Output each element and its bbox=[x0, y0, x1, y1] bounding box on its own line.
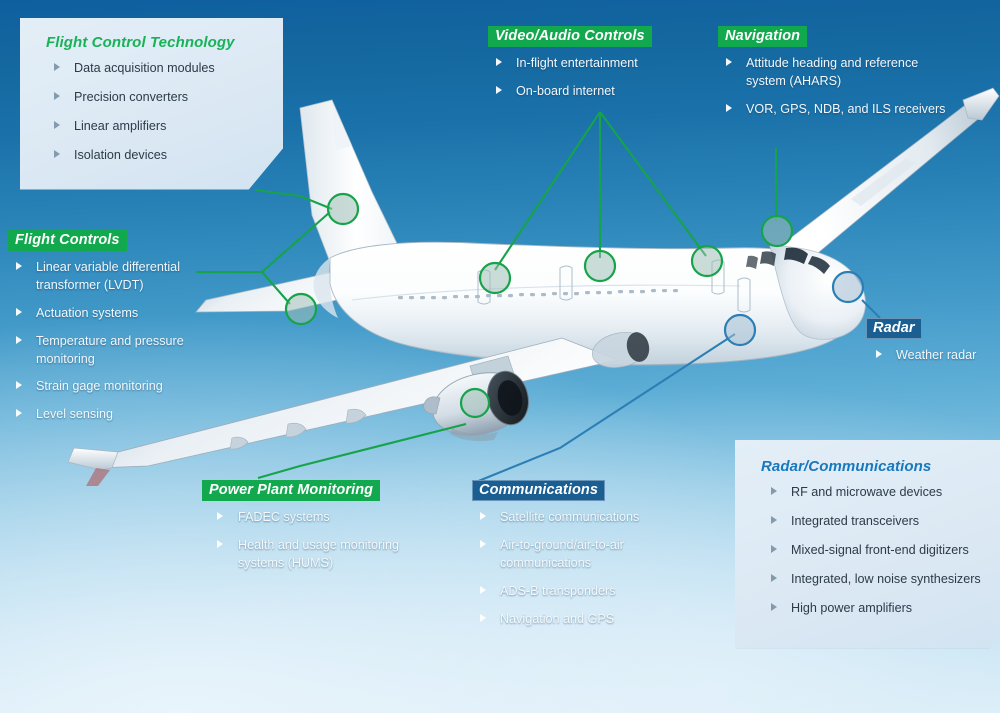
callout-marker-horizontal-stabilizer bbox=[286, 294, 316, 324]
group-radar-communications: Radar/Communications RF and microwave de… bbox=[735, 440, 1000, 648]
list-item: ADS-B transponders bbox=[472, 583, 687, 601]
item-list-radar-communications: RF and microwave devices Integrated tran… bbox=[749, 484, 1000, 617]
aerospace-infographic: Flight Control Technology Data acquisiti… bbox=[0, 0, 1000, 713]
triangle-right-icon bbox=[16, 409, 22, 417]
group-navigation: Navigation Attitude heading and referenc… bbox=[718, 26, 958, 129]
triangle-right-icon bbox=[480, 614, 486, 622]
group-title-radar: Radar bbox=[866, 318, 922, 339]
list-item: Data acquisition modules bbox=[34, 60, 269, 78]
item-list-power-plant-monitoring: FADEC systems Health and usage monitorin… bbox=[202, 509, 427, 573]
fuselage bbox=[330, 242, 858, 366]
list-item: Navigation and GPS bbox=[472, 611, 687, 629]
item-list-flight-control-technology: Data acquisition modules Precision conve… bbox=[34, 60, 269, 165]
triangle-right-icon bbox=[726, 58, 732, 66]
group-video-audio-controls: Video/Audio Controls In-flight entertain… bbox=[488, 26, 688, 111]
green-leader-lines bbox=[196, 112, 776, 478]
triangle-right-icon bbox=[217, 540, 223, 548]
list-item: Level sensing bbox=[8, 406, 223, 424]
callout-marker-nose-radome bbox=[833, 272, 863, 302]
triangle-right-icon bbox=[16, 336, 22, 344]
group-flight-controls: Flight Controls Linear variable differen… bbox=[8, 230, 223, 434]
triangle-right-icon bbox=[480, 512, 486, 520]
callout-marker-crown-antenna bbox=[762, 216, 792, 246]
group-title-navigation: Navigation bbox=[718, 26, 807, 47]
triangle-right-icon bbox=[54, 121, 60, 129]
triangle-right-icon bbox=[54, 63, 60, 71]
list-item: On-board internet bbox=[488, 83, 688, 101]
cockpit-windows bbox=[746, 248, 830, 274]
group-title-flight-control-technology: Flight Control Technology bbox=[46, 34, 235, 51]
triangle-right-icon bbox=[496, 58, 502, 66]
callout-marker-belly-antenna bbox=[725, 315, 755, 345]
group-title-flight-controls: Flight Controls bbox=[8, 230, 127, 251]
triangle-right-icon bbox=[771, 487, 777, 495]
callout-marker-engine bbox=[461, 389, 489, 417]
callout-marker-aft-cabin bbox=[692, 246, 722, 276]
triangle-right-icon bbox=[480, 540, 486, 548]
list-item: Attitude heading and reference system (A… bbox=[718, 55, 958, 91]
nose-cockpit bbox=[746, 246, 865, 339]
group-communications: Communications Satellite communications … bbox=[472, 480, 687, 638]
triangle-right-icon bbox=[771, 516, 777, 524]
triangle-right-icon bbox=[16, 308, 22, 316]
item-list-navigation: Attitude heading and reference system (A… bbox=[718, 55, 958, 119]
group-title-video-audio-controls: Video/Audio Controls bbox=[488, 26, 652, 47]
triangle-right-icon bbox=[54, 150, 60, 158]
list-item: Mixed-signal front-end digitizers bbox=[749, 542, 1000, 560]
list-item: Health and usage monitoring systems (HUM… bbox=[202, 537, 427, 573]
list-item: RF and microwave devices bbox=[749, 484, 1000, 502]
callout-marker-tail-fin bbox=[328, 194, 358, 224]
list-item: In-flight entertainment bbox=[488, 55, 688, 73]
list-item: Linear amplifiers bbox=[34, 118, 269, 136]
item-list-flight-controls: Linear variable differential transformer… bbox=[8, 259, 223, 424]
list-item: Air-to-ground/air-to-air communications bbox=[472, 537, 687, 573]
group-title-communications: Communications bbox=[472, 480, 605, 501]
list-item: High power amplifiers bbox=[749, 600, 1000, 618]
triangle-right-icon bbox=[726, 104, 732, 112]
triangle-right-icon bbox=[480, 586, 486, 594]
list-item: Strain gage monitoring bbox=[8, 378, 223, 396]
group-radar: Radar Weather radar bbox=[866, 318, 1000, 375]
triangle-right-icon bbox=[496, 86, 502, 94]
blue-callout-markers bbox=[725, 272, 863, 345]
list-item: Weather radar bbox=[866, 347, 1000, 365]
callout-marker-fwd-cabin bbox=[480, 263, 510, 293]
engine-nacelle bbox=[424, 356, 534, 444]
group-power-plant-monitoring: Power Plant Monitoring FADEC systems Hea… bbox=[202, 480, 427, 583]
far-engine bbox=[589, 328, 652, 373]
triangle-right-icon bbox=[16, 262, 22, 270]
triangle-right-icon bbox=[54, 92, 60, 100]
triangle-right-icon bbox=[876, 350, 882, 358]
group-title-power-plant-monitoring: Power Plant Monitoring bbox=[202, 480, 380, 501]
callout-marker-mid-cabin bbox=[585, 251, 615, 281]
item-list-video-audio-controls: In-flight entertainment On-board interne… bbox=[488, 55, 688, 101]
list-item: FADEC systems bbox=[202, 509, 427, 527]
fuselage-doors bbox=[478, 260, 750, 312]
triangle-right-icon bbox=[771, 603, 777, 611]
group-title-radar-communications: Radar/Communications bbox=[761, 458, 931, 475]
group-flight-control-technology: Flight Control Technology Data acquisiti… bbox=[20, 18, 283, 190]
triangle-right-icon bbox=[16, 381, 22, 389]
list-item: Precision converters bbox=[34, 89, 269, 107]
list-item: Isolation devices bbox=[34, 147, 269, 165]
item-list-radar: Weather radar bbox=[866, 347, 1000, 365]
triangle-right-icon bbox=[217, 512, 223, 520]
horizontal-stabilizer bbox=[196, 250, 478, 312]
triangle-right-icon bbox=[771, 545, 777, 553]
green-callout-markers bbox=[286, 194, 792, 417]
list-item: Actuation systems bbox=[8, 305, 223, 323]
list-item: Temperature and pressure monitoring bbox=[8, 333, 223, 369]
triangle-right-icon bbox=[771, 574, 777, 582]
window-row bbox=[398, 289, 678, 299]
list-item: Integrated, low noise synthesizers bbox=[749, 571, 1000, 589]
item-list-communications: Satellite communications Air-to-ground/a… bbox=[472, 509, 687, 628]
list-item: Satellite communications bbox=[472, 509, 687, 527]
list-item: VOR, GPS, NDB, and ILS receivers bbox=[718, 101, 958, 119]
list-item: Integrated transceivers bbox=[749, 513, 1000, 531]
vertical-stabilizer bbox=[300, 100, 404, 262]
list-item: Linear variable differential transformer… bbox=[8, 259, 223, 295]
